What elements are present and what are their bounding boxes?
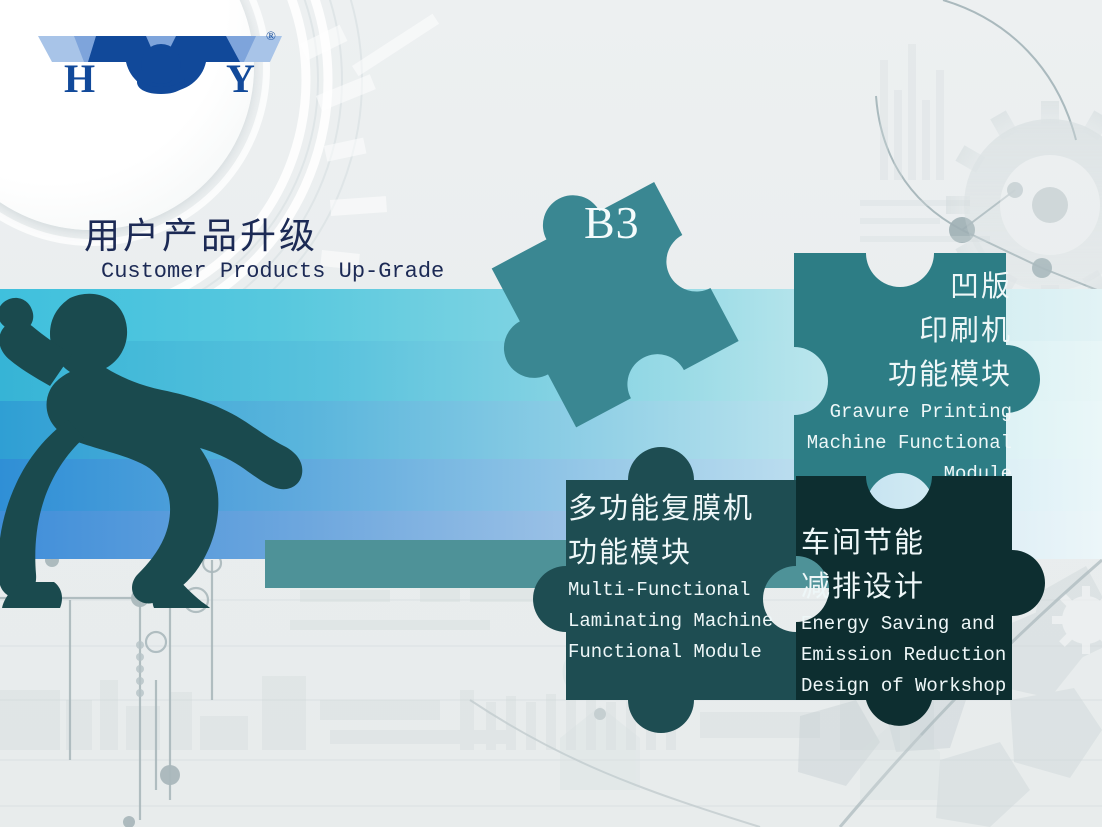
workshop-en-line-1: Energy Saving and bbox=[801, 609, 1061, 640]
gravure-cn-line-2: 印刷机 bbox=[600, 309, 1012, 353]
presentation-slide: H Y ® 用户产品升级 Customer Products Up-Grade … bbox=[0, 0, 1102, 827]
page-title-en: Customer Products Up-Grade bbox=[101, 259, 444, 284]
runner-silhouette-icon bbox=[0, 286, 316, 608]
gravure-cn-line-3: 功能模块 bbox=[600, 353, 1012, 397]
company-logo: H Y bbox=[30, 24, 292, 102]
workshop-text-block: 车间节能 减排设计 Energy Saving and Emission Red… bbox=[801, 521, 1061, 702]
registered-trademark-icon: ® bbox=[266, 28, 276, 44]
svg-text:H: H bbox=[64, 56, 95, 101]
gravure-cn-line-1: 凹版 bbox=[600, 265, 1012, 309]
laminating-cn-line-2: 功能模块 bbox=[568, 531, 808, 575]
laminating-cn-line-1: 多功能复膜机 bbox=[568, 487, 808, 531]
svg-text:Y: Y bbox=[226, 56, 255, 101]
workshop-cn-line-2: 减排设计 bbox=[801, 565, 1061, 609]
workshop-cn-line-1: 车间节能 bbox=[801, 521, 1061, 565]
laminating-text-block: 多功能复膜机 功能模块 Multi-Functional Laminating … bbox=[568, 487, 808, 668]
page-title-cn: 用户产品升级 bbox=[84, 207, 318, 259]
workshop-en-line-3: Design of Workshop bbox=[801, 671, 1061, 702]
workshop-en-line-2: Emission Reduction bbox=[801, 640, 1061, 671]
puzzle-piece-b3-label: B3 bbox=[584, 196, 640, 249]
laminating-en-line-2: Laminating Machine bbox=[568, 606, 808, 637]
laminating-en-line-3: Functional Module bbox=[568, 637, 808, 668]
laminating-en-line-1: Multi-Functional bbox=[568, 575, 808, 606]
